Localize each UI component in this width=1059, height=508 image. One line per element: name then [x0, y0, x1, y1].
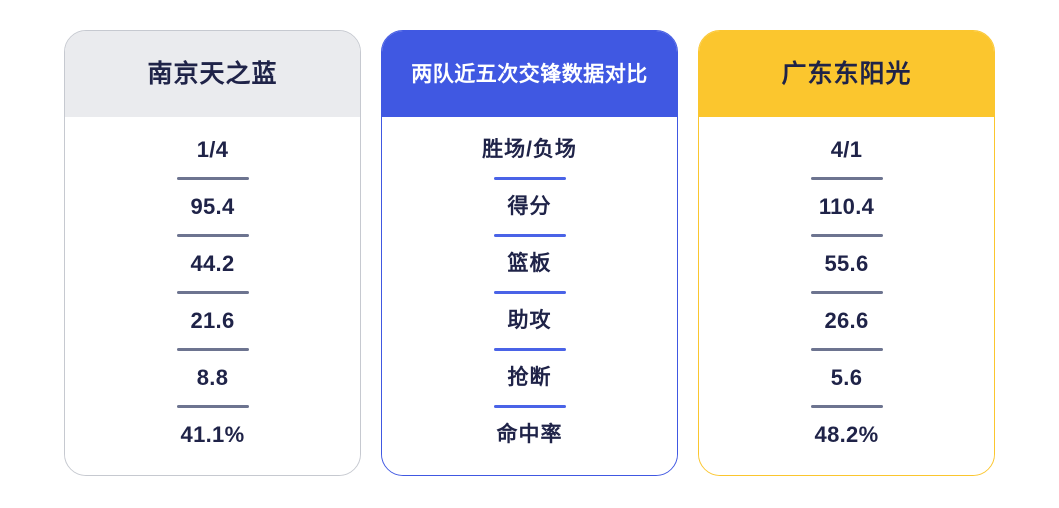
right-team-name: 广东东阳光: [781, 62, 911, 87]
comparison-title: 两队近五次交锋数据对比: [411, 64, 648, 85]
center-card-header: 两队近五次交锋数据对比: [382, 31, 677, 117]
stat-row: 抢断: [382, 361, 677, 418]
metric-label: 抢断: [508, 361, 552, 394]
stat-row: 1/4: [65, 133, 360, 190]
stat-separator: [494, 177, 566, 180]
stat-row: 8.8: [65, 361, 360, 418]
stat-separator: [494, 234, 566, 237]
right-stat-value: 48.2%: [815, 418, 879, 451]
metric-label: 篮板: [508, 247, 552, 280]
stat-separator: [811, 291, 883, 294]
right-stat-value: 5.6: [831, 361, 862, 394]
team-card-right: 广东东阳光 4/1 110.4 55.6 26.6 5.6: [698, 30, 995, 476]
left-card-header: 南京天之蓝: [65, 31, 360, 117]
right-stat-value: 26.6: [824, 304, 868, 337]
left-stat-value: 1/4: [197, 133, 228, 166]
stat-row: 44.2: [65, 247, 360, 304]
stat-row: 胜场/负场: [382, 133, 677, 190]
stat-row: 48.2%: [699, 418, 994, 451]
left-team-name: 南京天之蓝: [147, 62, 277, 87]
right-stat-value: 4/1: [831, 133, 862, 166]
center-labels-list: 胜场/负场 得分 篮板 助攻 抢断 命中率: [382, 117, 677, 475]
stat-separator: [494, 405, 566, 408]
stat-row: 41.1%: [65, 418, 360, 451]
comparison-board: 南京天之蓝 1/4 95.4 44.2 21.6 8.8: [0, 0, 1059, 508]
metric-label: 助攻: [508, 304, 552, 337]
metric-card-center: 两队近五次交锋数据对比 胜场/负场 得分 篮板 助攻 抢断: [381, 30, 678, 476]
right-card-header: 广东东阳光: [699, 31, 994, 117]
right-stats-list: 4/1 110.4 55.6 26.6 5.6 48.2%: [699, 117, 994, 475]
stat-row: 得分: [382, 190, 677, 247]
stat-separator: [811, 405, 883, 408]
stat-row: 命中率: [382, 418, 677, 451]
stat-row: 21.6: [65, 304, 360, 361]
left-stat-value: 44.2: [190, 247, 234, 280]
left-stat-value: 95.4: [190, 190, 234, 223]
stat-row: 110.4: [699, 190, 994, 247]
right-stat-value: 55.6: [824, 247, 868, 280]
left-stat-value: 41.1%: [181, 418, 245, 451]
metric-label: 胜场/负场: [482, 133, 577, 166]
left-stat-value: 21.6: [190, 304, 234, 337]
stat-row: 4/1: [699, 133, 994, 190]
metric-label: 得分: [508, 190, 552, 223]
metric-label: 命中率: [497, 418, 563, 451]
stat-row: 助攻: [382, 304, 677, 361]
right-stat-value: 110.4: [819, 190, 874, 223]
stat-separator: [177, 291, 249, 294]
stat-separator: [811, 234, 883, 237]
stat-separator: [177, 348, 249, 351]
stat-row: 5.6: [699, 361, 994, 418]
stat-separator: [494, 291, 566, 294]
stat-row: 篮板: [382, 247, 677, 304]
stat-separator: [177, 234, 249, 237]
stat-separator: [177, 405, 249, 408]
team-card-left: 南京天之蓝 1/4 95.4 44.2 21.6 8.8: [64, 30, 361, 476]
stat-row: 26.6: [699, 304, 994, 361]
stat-separator: [811, 177, 883, 180]
left-stats-list: 1/4 95.4 44.2 21.6 8.8 41.1%: [65, 117, 360, 475]
stat-row: 95.4: [65, 190, 360, 247]
stat-separator: [811, 348, 883, 351]
left-stat-value: 8.8: [197, 361, 228, 394]
stat-separator: [177, 177, 249, 180]
stat-row: 55.6: [699, 247, 994, 304]
stat-separator: [494, 348, 566, 351]
